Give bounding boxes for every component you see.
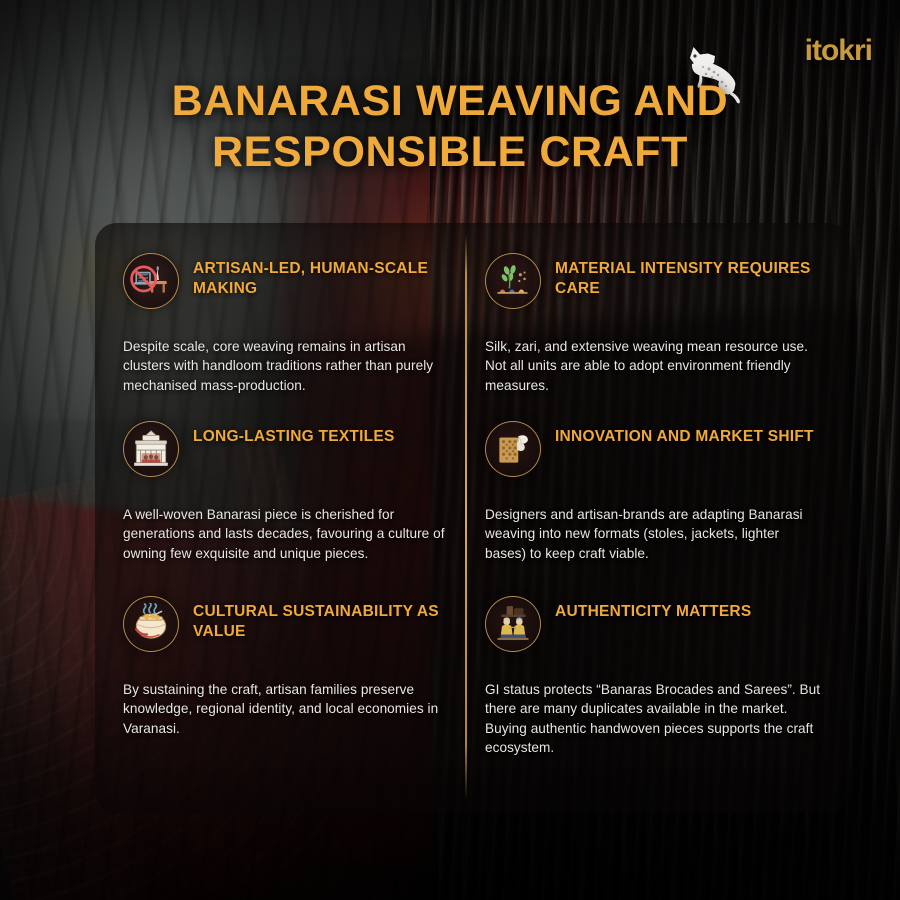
card-body: Despite scale, core weaving remains in a… [123, 337, 453, 395]
card-cultural-sustainability-as-value: CULTURAL SUSTAINABILITY AS VALUE By sust… [123, 596, 453, 738]
page-title-line-1: BANARASI WEAVING AND [172, 77, 729, 125]
cards-grid: ARTISAN-LED, HUMAN-SCALE MAKING Despite … [95, 223, 850, 813]
card-body: Silk, zari, and extensive weaving mean r… [485, 337, 821, 395]
card-body: Designers and artisan-brands are adaptin… [485, 505, 821, 563]
page-title: BANARASI WEAVING AND RESPONSIBLE CRAFT [60, 76, 840, 177]
card-header: AUTHENTICITY MATTERS [485, 596, 815, 658]
brocade-fabric-swatch-icon [485, 421, 541, 477]
card-title: CULTURAL SUSTAINABILITY AS VALUE [193, 596, 453, 642]
card-header: INNOVATION AND MARKET SHIFT [485, 421, 815, 483]
two-artisans-seated-icon [485, 596, 541, 652]
card-artisan-led-human-scale-making: ARTISAN-LED, HUMAN-SCALE MAKING Despite … [123, 253, 453, 395]
card-header: ARTISAN-LED, HUMAN-SCALE MAKING [123, 253, 453, 315]
poster-header: itokri BANARASI WEAVING AND RESPONSIBLE … [0, 0, 900, 215]
card-innovation-and-market-shift: INNOVATION AND MARKET SHIFT Designers an… [485, 421, 815, 563]
card-title: AUTHENTICITY MATTERS [555, 596, 751, 622]
infographic-poster: itokri BANARASI WEAVING AND RESPONSIBLE … [0, 0, 900, 900]
card-body: By sustaining the craft, artisan familie… [123, 680, 459, 738]
card-title: LONG-LASTING TEXTILES [193, 421, 395, 447]
card-authenticity-matters: AUTHENTICITY MATTERS GI status protects … [485, 596, 815, 757]
card-material-intensity-requires-care: MATERIAL INTENSITY REQUIRES CARE Silk, z… [485, 253, 815, 395]
card-header: CULTURAL SUSTAINABILITY AS VALUE [123, 596, 453, 658]
brand-logo-itokri: itokri [805, 34, 872, 68]
card-header: MATERIAL INTENSITY REQUIRES CARE [485, 253, 815, 315]
content-panel: ARTISAN-LED, HUMAN-SCALE MAKING Despite … [95, 223, 850, 813]
card-long-lasting-textiles: LONG-LASTING TEXTILES A well-woven Banar… [123, 421, 453, 563]
card-header: LONG-LASTING TEXTILES [123, 421, 453, 483]
card-body: A well-woven Banarasi piece is cherished… [123, 505, 453, 563]
card-body: GI status protects “Banaras Brocades and… [485, 680, 821, 757]
steaming-pot-icon [123, 596, 179, 652]
page-title-line-2: RESPONSIBLE CRAFT [60, 127, 840, 178]
card-title: MATERIAL INTENSITY REQUIRES CARE [555, 253, 815, 299]
leaf-dye-pots-icon [485, 253, 541, 309]
card-title: ARTISAN-LED, HUMAN-SCALE MAKING [193, 253, 453, 299]
no-machine-loom-icon [123, 253, 179, 309]
heritage-building-icon [123, 421, 179, 477]
card-title: INNOVATION AND MARKET SHIFT [555, 421, 814, 447]
